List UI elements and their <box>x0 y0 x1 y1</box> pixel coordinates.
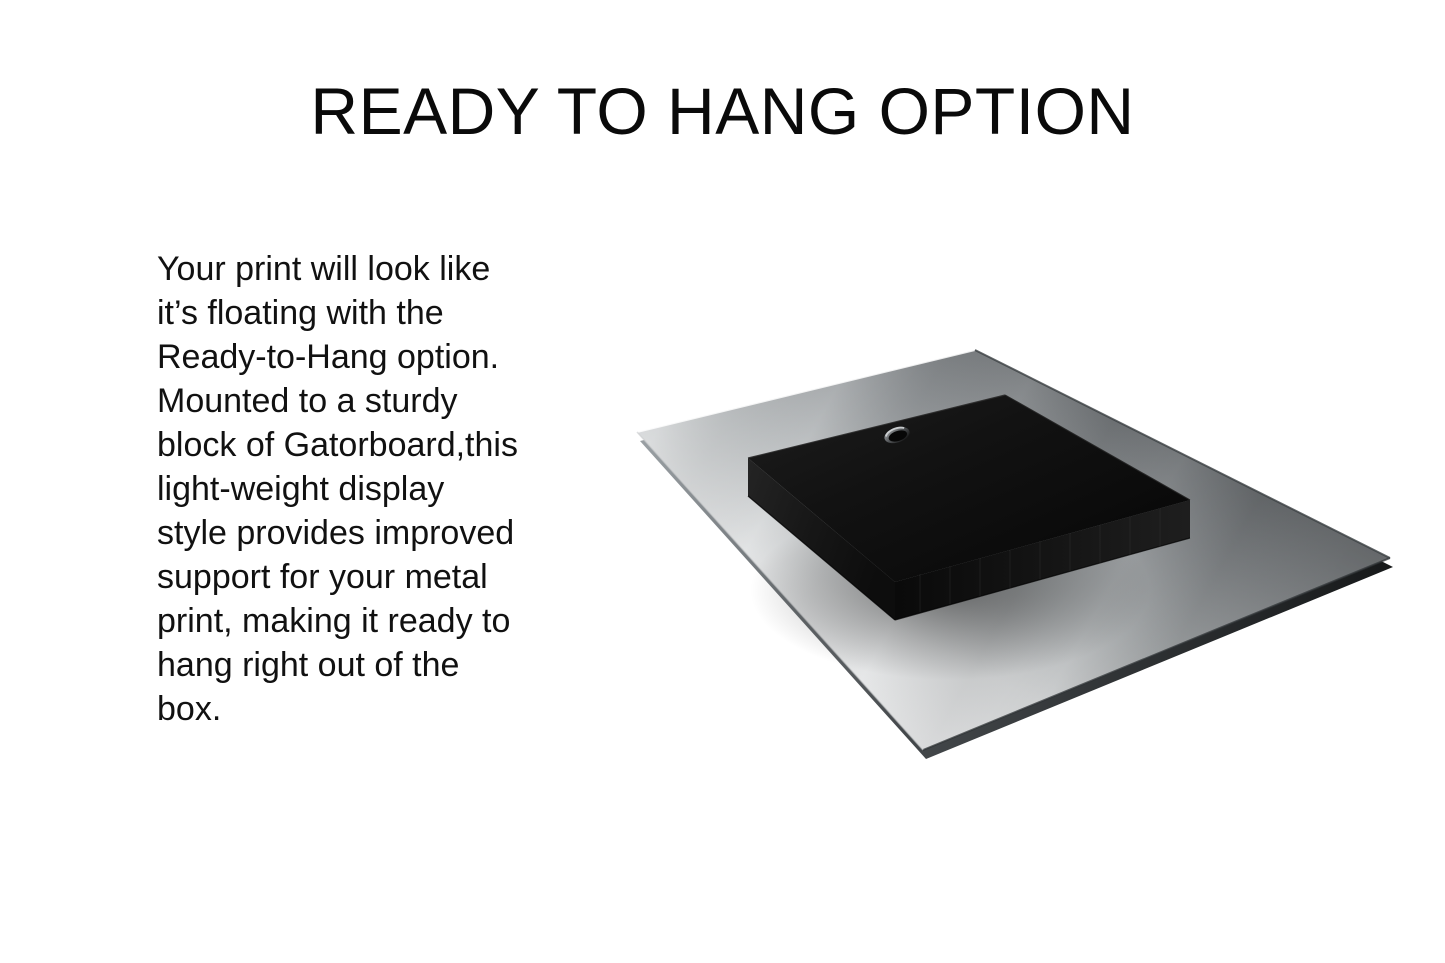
product-illustration-svg <box>600 320 1420 780</box>
body-line: Your print will look like <box>157 247 557 291</box>
page-title: READY TO HANG OPTION <box>0 78 1445 144</box>
body-text-block: Your print will look like it’s floating … <box>157 247 557 731</box>
slide-canvas: READY TO HANG OPTION Your print will loo… <box>0 0 1445 963</box>
body-line: box. <box>157 687 557 731</box>
body-line: Mounted to a sturdy <box>157 379 557 423</box>
body-line: Ready-to-Hang option. <box>157 335 557 379</box>
product-illustration <box>600 320 1420 780</box>
body-line: it’s floating with the <box>157 291 557 335</box>
body-line: light-weight display <box>157 467 557 511</box>
body-line: hang right out of the <box>157 643 557 687</box>
body-line: support for your metal <box>157 555 557 599</box>
body-line: style provides improved <box>157 511 557 555</box>
body-line: block of Gatorboard,this <box>157 423 557 467</box>
body-line: print, making it ready to <box>157 599 557 643</box>
